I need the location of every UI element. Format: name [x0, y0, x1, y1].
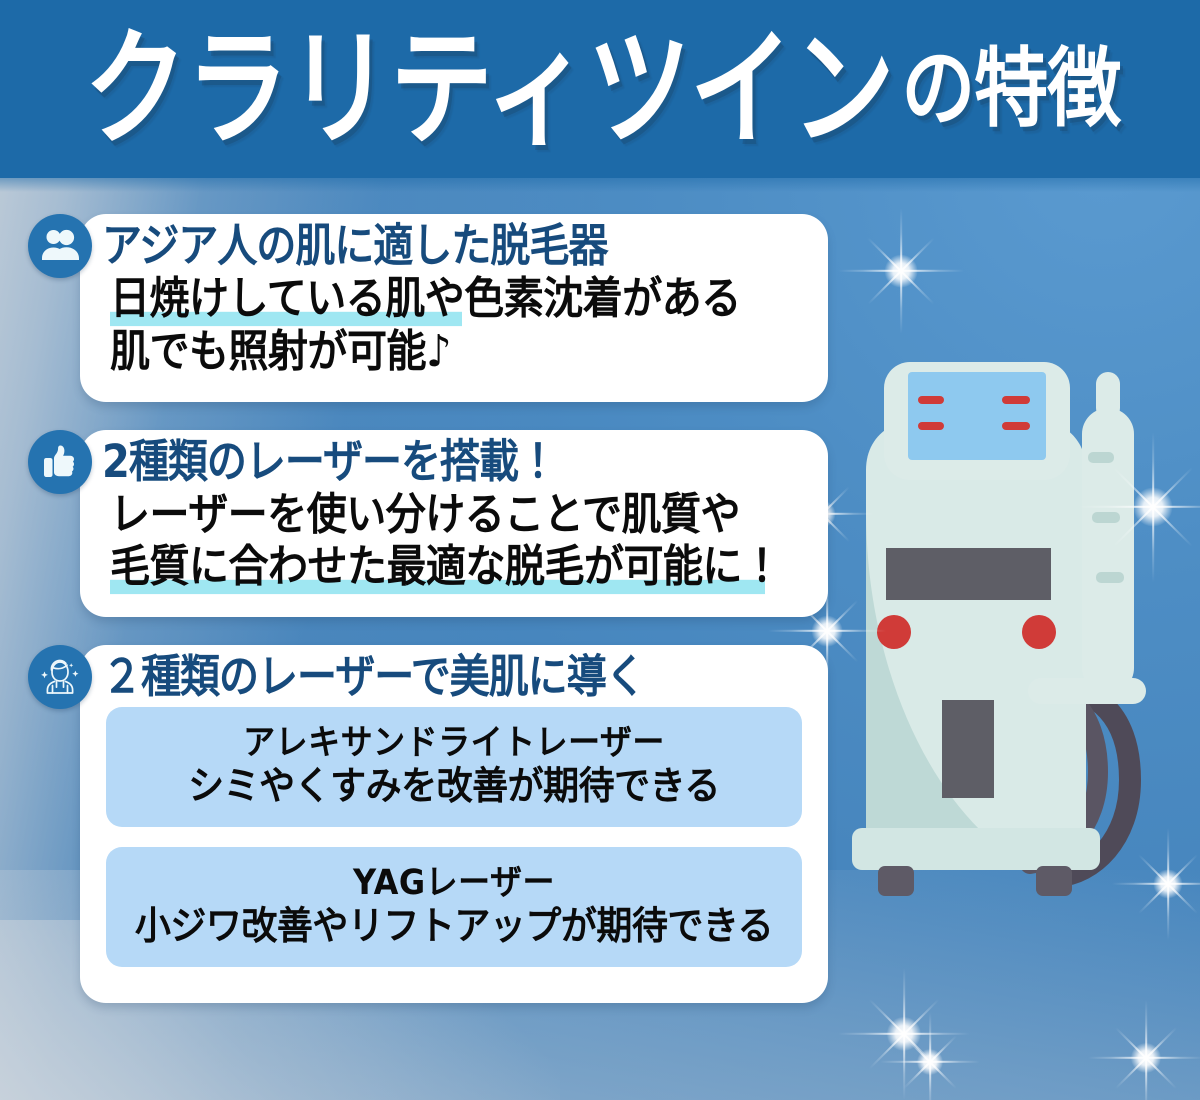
page-title-sub: の特徴 [901, 46, 1120, 132]
infographic-poster: クラリティツインの特徴 アジア人の肌に適した脱毛器 [0, 0, 1200, 1100]
feature-card-header: 2種類のレーザーを搭載！ [28, 430, 557, 494]
feature-card-heading: 2種類のレーザーを搭載！ [102, 438, 557, 486]
laser-machine-illustration [830, 360, 1170, 920]
feature-card-heading: アジア人の肌に適した脱毛器 [102, 222, 607, 270]
feature-card-line-text: 日焼けしている肌や色素沈着がある [110, 273, 741, 324]
feature-card-line: 肌でも照射が可能♪ [110, 323, 451, 381]
laser-type-name: アレキサンドライトレーザー [118, 719, 790, 766]
feature-card-heading: ２種類のレーザーで美肌に導く [102, 653, 645, 701]
feature-card: ２種類のレーザーで美肌に導く アレキサンドライトレーザー シミやくすみを改善が期… [28, 645, 828, 1003]
feature-card-header: アジア人の肌に適した脱毛器 [28, 214, 607, 278]
feature-card: 2種類のレーザーを搭載！ レーザーを使い分けることで肌質や 毛質に合わせた最適な… [28, 430, 828, 618]
page-title: クラリティツインの特徴 [0, 0, 1200, 178]
feature-card-list: アジア人の肌に適した脱毛器 日焼けしている肌や色素沈着がある 肌でも照射が可能♪ [28, 186, 828, 1029]
feature-card-line: 日焼けしている肌や色素沈着がある [110, 270, 741, 328]
feature-card-header: ２種類のレーザーで美肌に導く [28, 645, 645, 709]
laser-type-benefit: シミやくすみを改善が期待できる [118, 763, 790, 814]
laser-type-pill: アレキサンドライトレーザー シミやくすみを改善が期待できる [106, 707, 802, 827]
feature-card: アジア人の肌に適した脱毛器 日焼けしている肌や色素沈着がある 肌でも照射が可能♪ [28, 214, 828, 402]
page-title-main: クラリティツイン [84, 26, 894, 153]
feature-card-line-text: レーザーを使い分けることで肌質や [110, 489, 740, 540]
two-people-icon [28, 214, 92, 278]
feature-card-line: 毛質に合わせた最適な脱毛が可能に！ [110, 538, 782, 596]
feature-card-line-text: 毛質に合わせた最適な脱毛が可能に！ [110, 542, 782, 593]
laser-type-pill: YAGレーザー 小ジワ改善やリフトアップが期待できる [106, 847, 802, 967]
laser-type-benefit: 小ジワ改善やリフトアップが期待できる [118, 902, 790, 953]
feature-card-line: レーザーを使い分けることで肌質や [110, 486, 740, 544]
laser-type-name: YAGレーザー [118, 859, 790, 906]
feature-card-line-text: 肌でも照射が可能♪ [110, 326, 451, 377]
beauty-face-icon [28, 645, 92, 709]
thumbs-up-icon [28, 430, 92, 494]
